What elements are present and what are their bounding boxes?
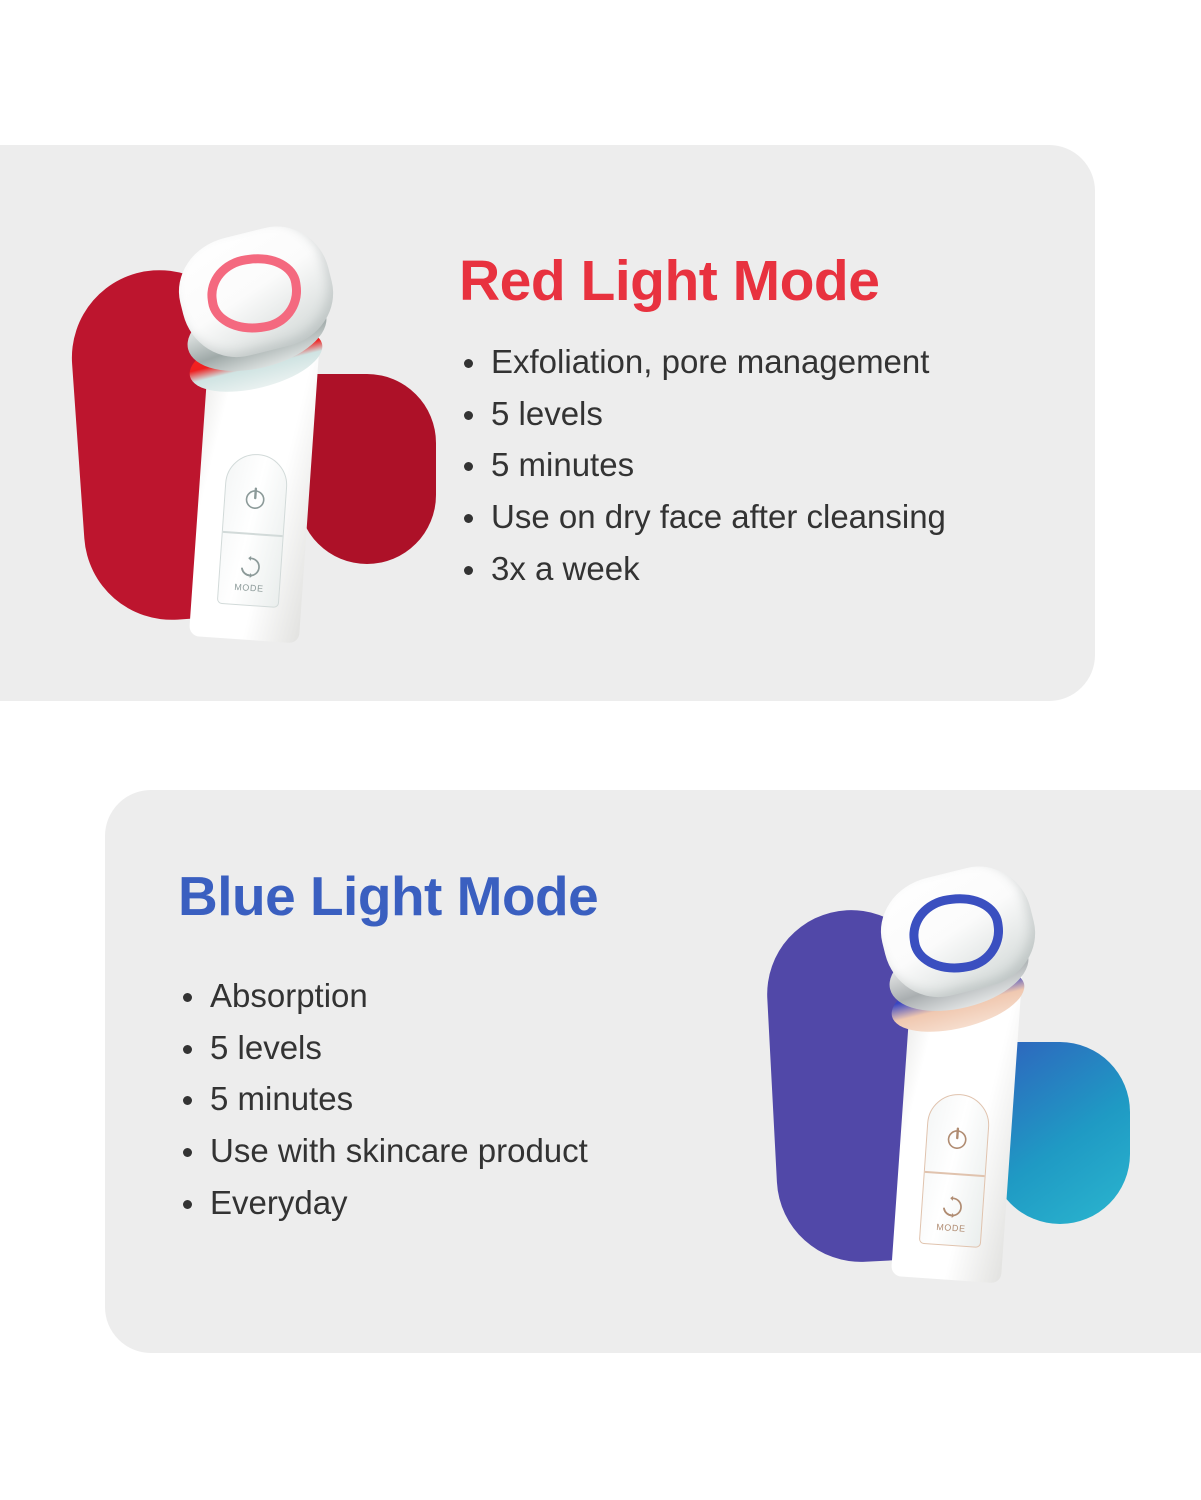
- feature-item: Exfoliation, pore management: [459, 336, 1059, 388]
- feature-item: Absorption: [178, 970, 788, 1022]
- device-button-panel: MODE: [217, 452, 289, 608]
- light-ring-icon: [904, 888, 1008, 978]
- red-light-mode-text-block: Red Light Mode Exfoliation, pore managem…: [459, 252, 1059, 595]
- blue-light-feature-list: Absorption 5 levels 5 minutes Use with s…: [178, 970, 788, 1229]
- feature-item: 5 levels: [178, 1022, 788, 1074]
- red-light-device: MODE: [156, 222, 352, 642]
- power-icon: [241, 484, 269, 517]
- blue-light-mode-text-block: Blue Light Mode Absorption 5 levels 5 mi…: [178, 868, 788, 1229]
- feature-item: 5 minutes: [459, 439, 1059, 491]
- feature-item: 5 levels: [459, 388, 1059, 440]
- feature-item: Use with skincare product: [178, 1125, 788, 1177]
- mode-button-label: MODE: [921, 1221, 982, 1235]
- red-light-device-figure: MODE: [60, 222, 440, 642]
- panel-divider: [223, 531, 283, 537]
- panel-divider: [925, 1171, 985, 1177]
- feature-item: 3x a week: [459, 543, 1059, 595]
- red-light-mode-title: Red Light Mode: [459, 252, 1059, 312]
- mode-refresh-icon: [939, 1194, 965, 1225]
- feature-item: Use on dry face after cleansing: [459, 491, 1059, 543]
- feature-item: Everyday: [178, 1177, 788, 1229]
- light-ring-icon: [202, 248, 306, 338]
- blue-light-device: MODE: [858, 862, 1054, 1282]
- red-light-feature-list: Exfoliation, pore management 5 levels 5 …: [459, 336, 1059, 595]
- blue-light-mode-title: Blue Light Mode: [178, 868, 788, 926]
- device-button-panel: MODE: [919, 1092, 991, 1248]
- feature-item: 5 minutes: [178, 1073, 788, 1125]
- blue-light-device-figure: MODE: [762, 862, 1134, 1284]
- power-icon: [943, 1124, 971, 1157]
- mode-refresh-icon: [237, 554, 263, 585]
- mode-button-label: MODE: [219, 581, 280, 595]
